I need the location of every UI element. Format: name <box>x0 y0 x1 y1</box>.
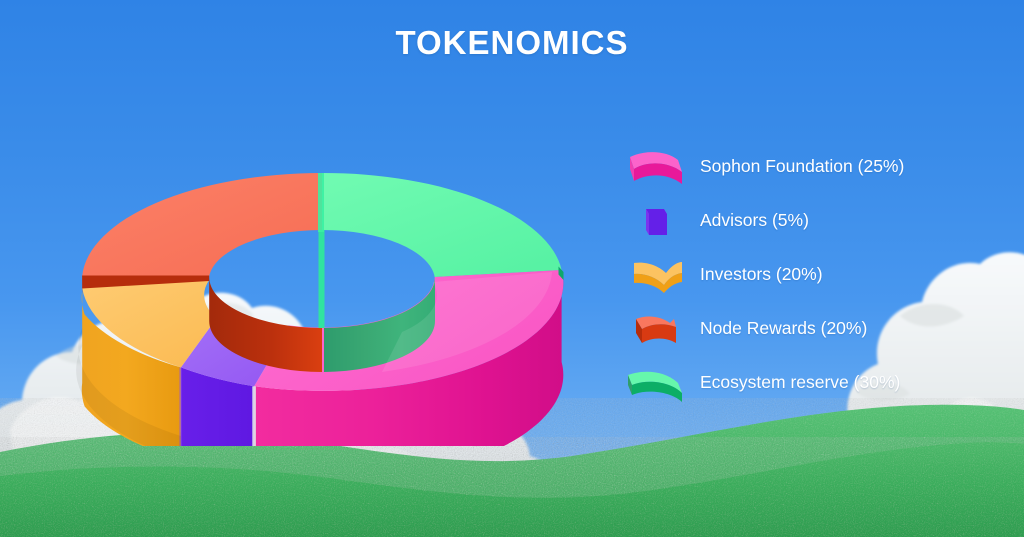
legend-item-ecosystem-reserve[interactable]: Ecosystem reserve (30%) <box>626 356 956 410</box>
tokenomics-infographic: TOKENOMICS <box>0 0 1024 537</box>
legend-item-investors[interactable]: Investors (20%) <box>626 248 956 302</box>
divider-sophon-advisors <box>252 386 256 446</box>
tokenomics-donut-chart <box>52 96 592 446</box>
divider-advisors-investors <box>179 367 181 446</box>
legend-swatch-sophon-foundation <box>626 147 688 187</box>
legend-label-sophon-foundation: Sophon Foundation (25%) <box>700 157 904 176</box>
legend-item-advisors[interactable]: Advisors (5%) <box>626 194 956 248</box>
legend-label-node-rewards: Node Rewards (20%) <box>700 319 867 338</box>
legend-label-advisors: Advisors (5%) <box>700 211 809 230</box>
legend-item-sophon-foundation[interactable]: Sophon Foundation (25%) <box>626 140 956 194</box>
legend-swatch-ecosystem-reserve <box>626 363 688 403</box>
legend-label-ecosystem-reserve: Ecosystem reserve (30%) <box>700 373 900 392</box>
legend-item-node-rewards[interactable]: Node Rewards (20%) <box>626 302 956 356</box>
page-title: TOKENOMICS <box>0 24 1024 62</box>
legend-swatch-advisors <box>626 201 688 241</box>
seam-green-vertical <box>319 230 325 328</box>
chart-legend: Sophon Foundation (25%) Advisors (5%) <box>626 140 956 410</box>
legend-swatch-node-rewards <box>626 309 688 349</box>
seam-green-vertical-outer <box>318 173 324 232</box>
legend-swatch-investors <box>626 255 688 295</box>
legend-label-investors: Investors (20%) <box>700 265 823 284</box>
